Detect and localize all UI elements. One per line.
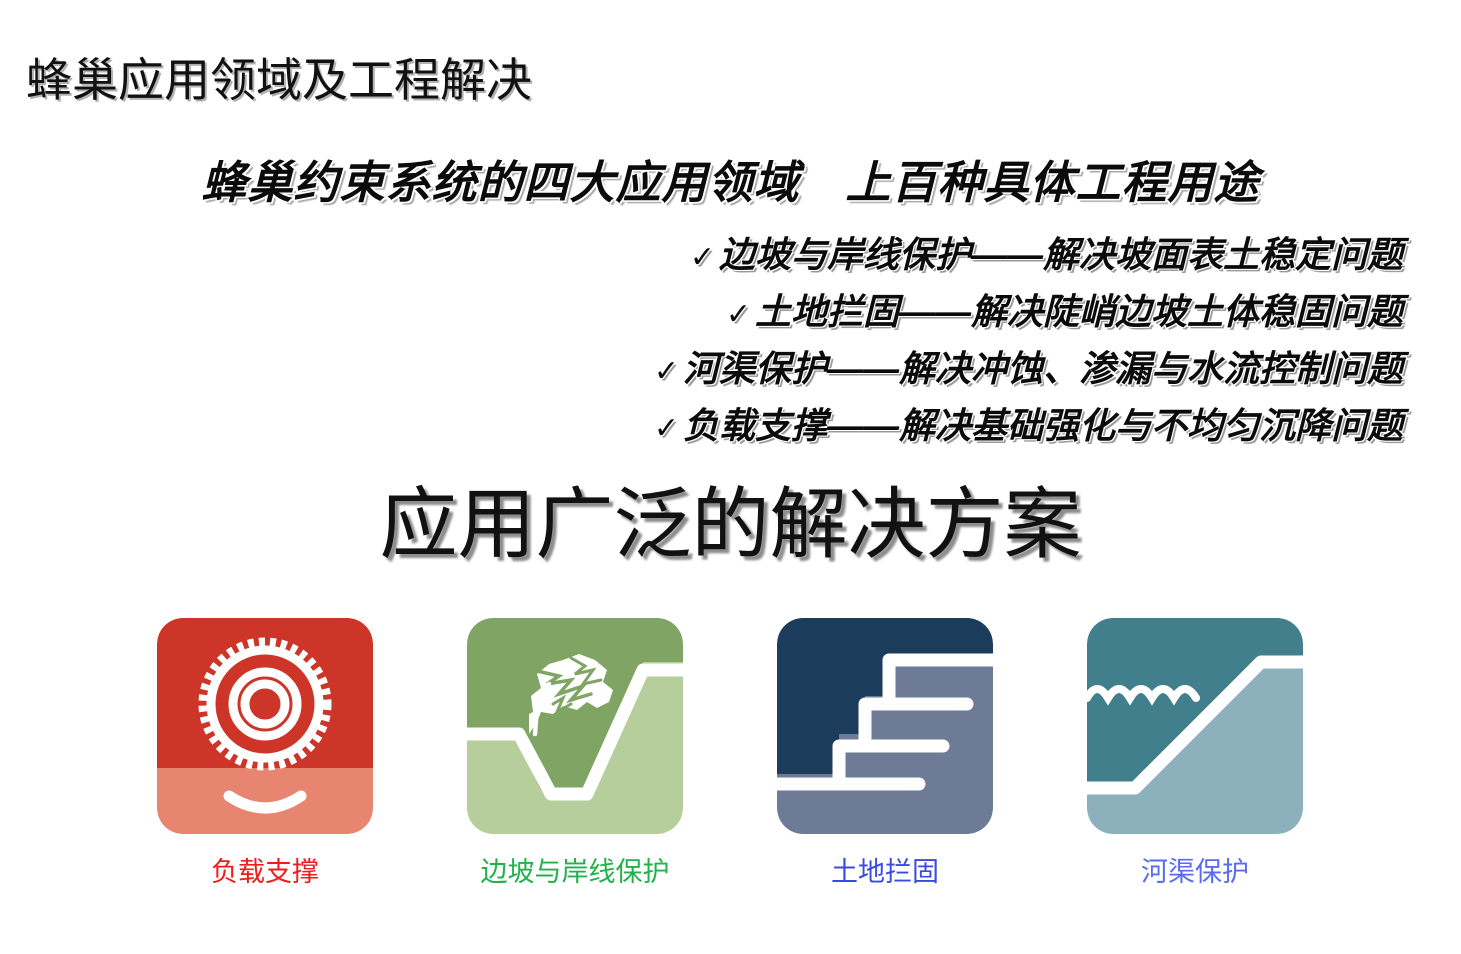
headline: 蜂巢约束系统的四大应用领域 上百种具体工程用途 <box>0 146 1461 211</box>
application-card-slope-shoreline-protection[interactable]: 边坡与岸线保护 <box>420 618 730 888</box>
list-item: ✓土地拦固——解决陡峭边坡土体稳固问题 <box>0 285 1403 342</box>
application-card-canal-protection[interactable]: 河渠保护 <box>1040 618 1350 888</box>
application-card-land-retention[interactable]: 土地拦固 <box>730 618 1040 888</box>
list-item-label: 边坡与岸线保护——解决坡面表土稳定问题 <box>719 234 1403 275</box>
check-icon: ✓ <box>690 241 719 274</box>
application-icon-row: 负载支撑 边坡与岸线保护 <box>110 618 1351 888</box>
list-item: ✓河渠保护——解决冲蚀、渗漏与水流控制问题 <box>0 342 1403 399</box>
tree-trench-icon <box>467 618 683 834</box>
application-card-label: 河渠保护 <box>1141 856 1249 888</box>
bullet-list: ✓边坡与岸线保护——解决坡面表土稳定问题 ✓土地拦固——解决陡峭边坡土体稳固问题… <box>0 228 1403 456</box>
check-icon: ✓ <box>654 355 683 388</box>
statement-text: 应用广泛的解决方案 <box>0 484 1461 566</box>
check-icon: ✓ <box>654 412 683 445</box>
list-item-label: 土地拦固——解决陡峭边坡土体稳固问题 <box>755 291 1403 332</box>
application-card-label: 边坡与岸线保护 <box>481 856 670 888</box>
application-card-label: 负载支撑 <box>211 856 319 888</box>
wheel-load-icon <box>157 618 373 834</box>
water-slope-icon <box>1087 618 1303 834</box>
list-item: ✓边坡与岸线保护——解决坡面表土稳定问题 <box>0 228 1403 285</box>
application-card-label: 土地拦固 <box>831 856 939 888</box>
page-title: 蜂巢应用领域及工程解决 <box>26 56 532 107</box>
application-card-load-support[interactable]: 负载支撑 <box>110 618 420 888</box>
check-icon: ✓ <box>726 298 755 331</box>
list-item-label: 河渠保护——解决冲蚀、渗漏与水流控制问题 <box>683 348 1403 389</box>
terraced-wall-icon <box>777 618 993 834</box>
list-item: ✓负载支撑——解决基础强化与不均匀沉降问题 <box>0 399 1403 456</box>
list-item-label: 负载支撑——解决基础强化与不均匀沉降问题 <box>683 405 1403 446</box>
